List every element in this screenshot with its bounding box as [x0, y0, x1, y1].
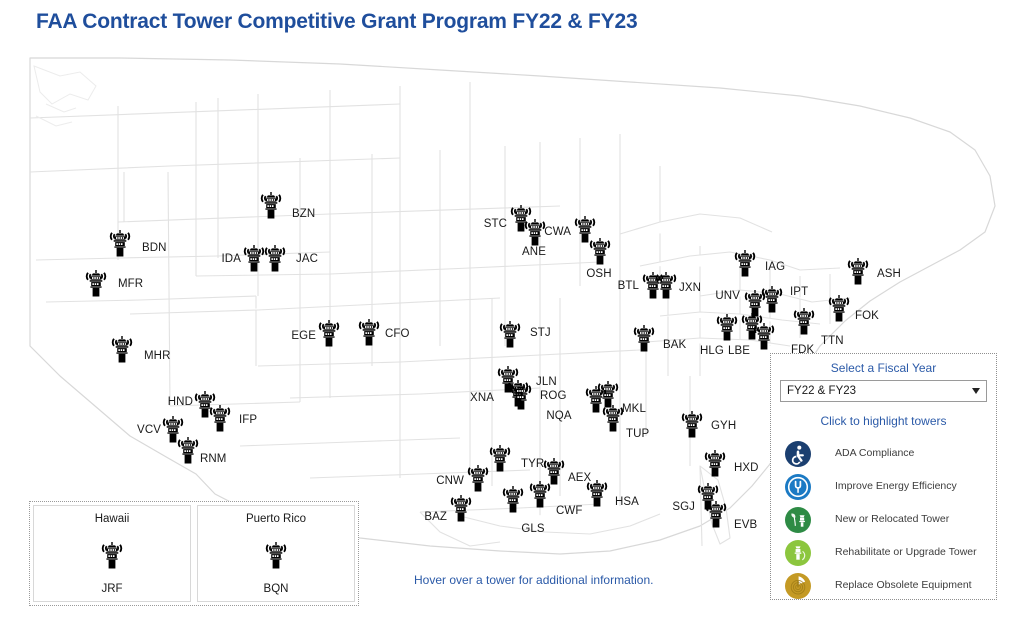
tower-marker-tup[interactable]	[596, 401, 630, 435]
tower-label-hlg: HLG	[700, 345, 724, 357]
legend-panel: Select a Fiscal Year FY22 & FY23 Click t…	[770, 353, 997, 600]
tower-marker-bqn[interactable]	[259, 538, 293, 572]
tower-label-jxn: JXN	[679, 282, 701, 294]
wheelchair-icon	[785, 441, 811, 467]
tower-label-unv: UNV	[715, 290, 740, 302]
tower-label-gls: GLS	[521, 523, 544, 535]
tower-label-bzn: BZN	[292, 208, 315, 220]
rehab-tower-icon	[785, 540, 811, 566]
tower-marker-bdn[interactable]	[103, 226, 137, 260]
us-map[interactable]: BDN	[0, 46, 1024, 644]
tower-label-bak: BAK	[663, 339, 686, 351]
tower-label-nqa: NQA	[546, 410, 571, 422]
tower-label-ipt: IPT	[790, 286, 808, 298]
tower-label-mfr: MFR	[118, 278, 143, 290]
legend-item-label: Replace Obsolete Equipment	[835, 579, 972, 592]
tower-label-gyh: GYH	[711, 420, 736, 432]
tower-marker-bak[interactable]	[627, 321, 661, 355]
legend-item-label: ADA Compliance	[835, 447, 914, 460]
tower-marker-jxn[interactable]	[649, 268, 683, 302]
territory-insets: Hawaii	[29, 501, 359, 606]
tower-label-sgj: SGJ	[672, 501, 695, 513]
legend-item-label: New or Relocated Tower	[835, 513, 949, 526]
tower-marker-evb[interactable]	[699, 497, 733, 531]
legend-item-replace-equipment[interactable]: Replace Obsolete Equipment	[780, 569, 987, 602]
tower-label-vcv: VCV	[137, 424, 161, 436]
tower-label-ege: EGE	[291, 330, 316, 342]
legend-item-label: Rehabilitate or Upgrade Tower	[835, 546, 977, 559]
tower-marker-ifp[interactable]	[203, 401, 237, 435]
inset-puerto-rico: Puerto Rico	[197, 505, 355, 602]
tower-label-iag: IAG	[765, 261, 785, 273]
tower-label-hnd: HND	[168, 396, 193, 408]
tower-marker-jrf[interactable]	[95, 538, 129, 572]
tower-marker-jac[interactable]	[258, 241, 292, 275]
tower-marker-ege[interactable]	[312, 316, 346, 350]
tower-label-hxd: HXD	[734, 462, 759, 474]
tower-marker-aex[interactable]	[537, 454, 571, 488]
fiscal-year-value: FY22 & FY23	[787, 385, 972, 397]
tower-label-cfo: CFO	[385, 328, 410, 340]
tower-marker-fok[interactable]	[822, 291, 856, 325]
legend-item-energy-plug[interactable]: Improve Energy Efficiency	[780, 470, 987, 503]
inset-hawaii: Hawaii	[33, 505, 191, 602]
legend-heading: Click to highlight towers	[780, 414, 987, 428]
fiscal-year-label: Select a Fiscal Year	[780, 361, 987, 375]
tower-label-tup: TUP	[626, 428, 649, 440]
tower-label-jln: JLN	[536, 376, 557, 388]
tower-marker-rog[interactable]	[504, 379, 538, 413]
inset-region-label: Hawaii	[34, 513, 190, 525]
tower-label-fok: FOK	[855, 310, 879, 322]
tower-label-cwa: CWA	[544, 226, 571, 238]
replace-equipment-icon	[785, 573, 811, 599]
tower-label-osh: OSH	[586, 268, 611, 280]
tower-label-bdn: BDN	[142, 242, 167, 254]
energy-plug-icon	[785, 474, 811, 500]
tower-label-rnm: RNM	[200, 453, 227, 465]
tower-marker-mhr[interactable]	[105, 332, 139, 366]
tower-marker-osh[interactable]	[583, 234, 617, 268]
page-title: FAA Contract Tower Competitive Grant Pro…	[36, 10, 637, 34]
tower-label-cnw: CNW	[436, 475, 464, 487]
tower-marker-hxd[interactable]	[698, 446, 732, 480]
new-tower-icon	[785, 507, 811, 533]
legend-rows: ADA Compliance Improve Energy Efficiency…	[780, 437, 987, 602]
legend-item-new-tower[interactable]: New or Relocated Tower	[780, 503, 987, 536]
legend-item-wheelchair[interactable]: ADA Compliance	[780, 437, 987, 470]
tower-marker-ash[interactable]	[841, 254, 875, 288]
tower-marker-gyh[interactable]	[675, 407, 709, 441]
tower-label-xna: XNA	[470, 392, 494, 404]
tower-marker-hsa[interactable]	[580, 476, 614, 510]
tower-label-ida: IDA	[222, 253, 241, 265]
tower-label-stj: STJ	[530, 327, 551, 339]
legend-item-label: Improve Energy Efficiency	[835, 480, 957, 493]
chevron-down-icon	[972, 388, 980, 394]
tower-label-rog: ROG	[540, 390, 567, 402]
tower-label-ttn: TTN	[821, 335, 844, 347]
fiscal-year-select[interactable]: FY22 & FY23	[780, 380, 987, 402]
tower-label-cwf: CWF	[556, 505, 582, 517]
tower-label-hsa: HSA	[615, 496, 639, 508]
tower-marker-cfo[interactable]	[352, 315, 386, 349]
tower-label-stc: STC	[484, 218, 507, 230]
tower-marker-ttn[interactable]	[787, 304, 821, 338]
tower-label-ane: ANE	[522, 246, 546, 258]
tower-label-ifp: IFP	[239, 414, 257, 426]
tower-label-evb: EVB	[734, 519, 757, 531]
tower-label-btl: BTL	[618, 280, 639, 292]
tower-marker-bzn[interactable]	[254, 188, 288, 222]
tower-label-baz: BAZ	[424, 511, 447, 523]
tower-marker-cnw[interactable]	[461, 461, 495, 495]
tower-marker-mfr[interactable]	[79, 266, 113, 300]
tower-label-jac: JAC	[296, 253, 318, 265]
app-root: FAA Contract Tower Competitive Grant Pro…	[0, 0, 1024, 644]
tower-label-ash: ASH	[877, 268, 901, 280]
tower-label-jrf: JRF	[34, 583, 190, 595]
tower-marker-stj[interactable]	[493, 317, 527, 351]
tower-label-bqn: BQN	[198, 583, 354, 595]
tower-marker-baz[interactable]	[444, 491, 478, 525]
legend-item-rehab-tower[interactable]: Rehabilitate or Upgrade Tower	[780, 536, 987, 569]
hover-hint-text: Hover over a tower for additional inform…	[414, 573, 653, 587]
tower-label-mhr: MHR	[144, 350, 171, 362]
tower-marker-fdk[interactable]	[747, 319, 781, 353]
tower-marker-iag[interactable]	[728, 246, 762, 280]
inset-region-label: Puerto Rico	[198, 513, 354, 525]
